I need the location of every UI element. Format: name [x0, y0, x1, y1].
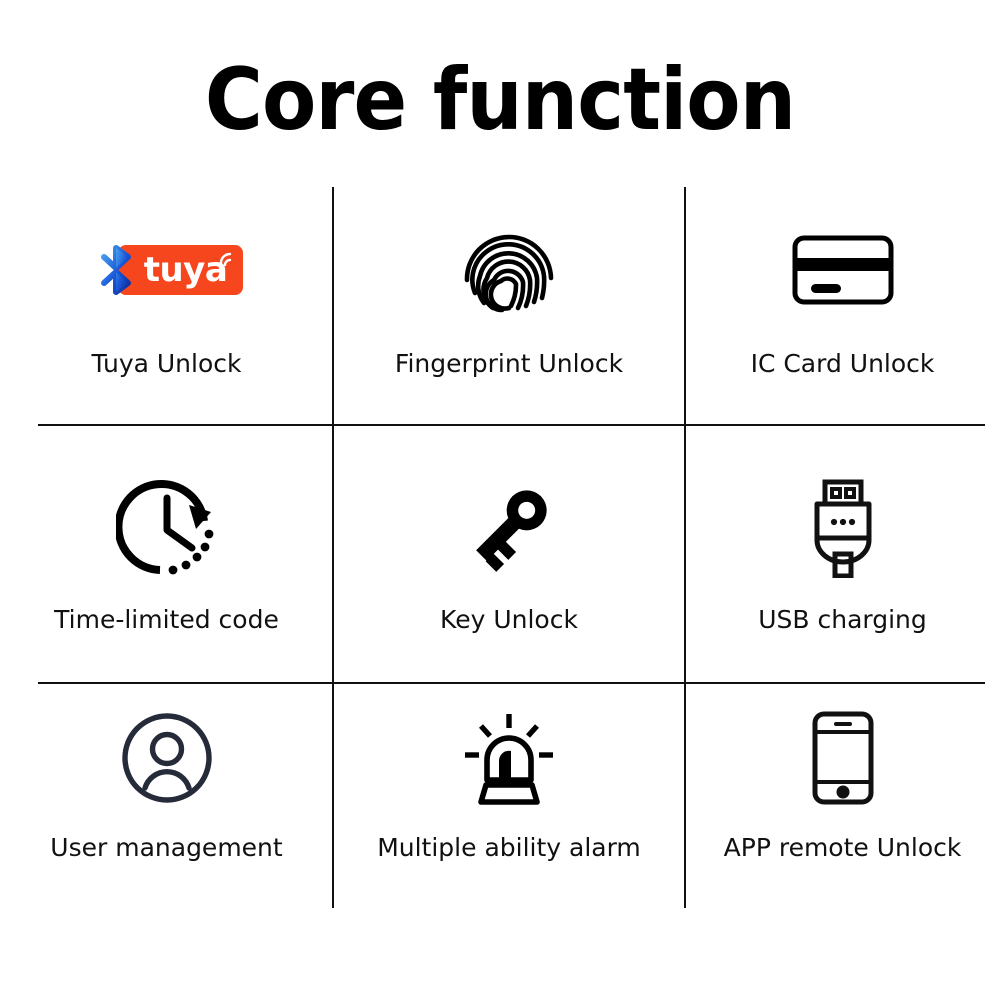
- user-circle-icon: [119, 710, 215, 806]
- feature-cell-time-limited-code[interactable]: Time-limited code: [0, 425, 333, 683]
- feature-cell-user-management[interactable]: User management: [0, 683, 333, 908]
- feature-label-tuya-unlock: Tuya Unlock: [92, 349, 242, 379]
- feature-label-user-management: User management: [50, 833, 282, 863]
- ic-card-icon: [791, 232, 895, 308]
- wifi-icon: [217, 251, 237, 269]
- siren-alarm-icon: [459, 710, 559, 806]
- feature-label-time-limited-code: Time-limited code: [54, 605, 279, 635]
- feature-label-multiple-ability-alarm: Multiple ability alarm: [377, 833, 641, 863]
- feature-cell-app-remote-unlock[interactable]: APP remote Unlock: [685, 683, 1000, 908]
- clock-arrow-icon: [116, 477, 218, 579]
- usb-plug-icon-wrap: [801, 473, 885, 583]
- feature-label-key-unlock: Key Unlock: [440, 605, 578, 635]
- fingerprint-icon-wrap: [457, 215, 561, 325]
- bluetooth-icon: [90, 244, 142, 296]
- key-icon: [459, 478, 559, 578]
- feature-cell-usb-charging[interactable]: USB charging: [685, 425, 1000, 683]
- feature-grid: tuya Tuya Unlock: [0, 187, 1000, 908]
- feature-label-usb-charging: USB charging: [758, 605, 927, 635]
- user-circle-icon-wrap: [119, 703, 215, 813]
- feature-cell-tuya-unlock[interactable]: tuya Tuya Unlock: [0, 187, 333, 425]
- fingerprint-icon: [457, 218, 561, 322]
- feature-cell-key-unlock[interactable]: Key Unlock: [333, 425, 685, 683]
- ic-card-icon-wrap: [791, 215, 895, 325]
- clock-arrow-icon-wrap: [116, 473, 218, 583]
- feature-cell-multiple-ability-alarm[interactable]: Multiple ability alarm: [333, 683, 685, 908]
- smartphone-icon-wrap: [811, 703, 875, 813]
- feature-label-fingerprint-unlock: Fingerprint Unlock: [395, 349, 623, 379]
- feature-label-ic-card-unlock: IC Card Unlock: [751, 349, 935, 379]
- feature-cell-fingerprint-unlock[interactable]: Fingerprint Unlock: [333, 187, 685, 425]
- key-icon-wrap: [459, 473, 559, 583]
- feature-cell-ic-card-unlock[interactable]: IC Card Unlock: [685, 187, 1000, 425]
- smartphone-icon: [811, 710, 875, 806]
- siren-alarm-icon-wrap: [459, 703, 559, 813]
- tuya-bluetooth-logo: tuya: [90, 215, 244, 325]
- core-function-poster: Core function: [0, 0, 1000, 1000]
- feature-label-app-remote-unlock: APP remote Unlock: [724, 833, 962, 863]
- usb-plug-icon: [801, 478, 885, 578]
